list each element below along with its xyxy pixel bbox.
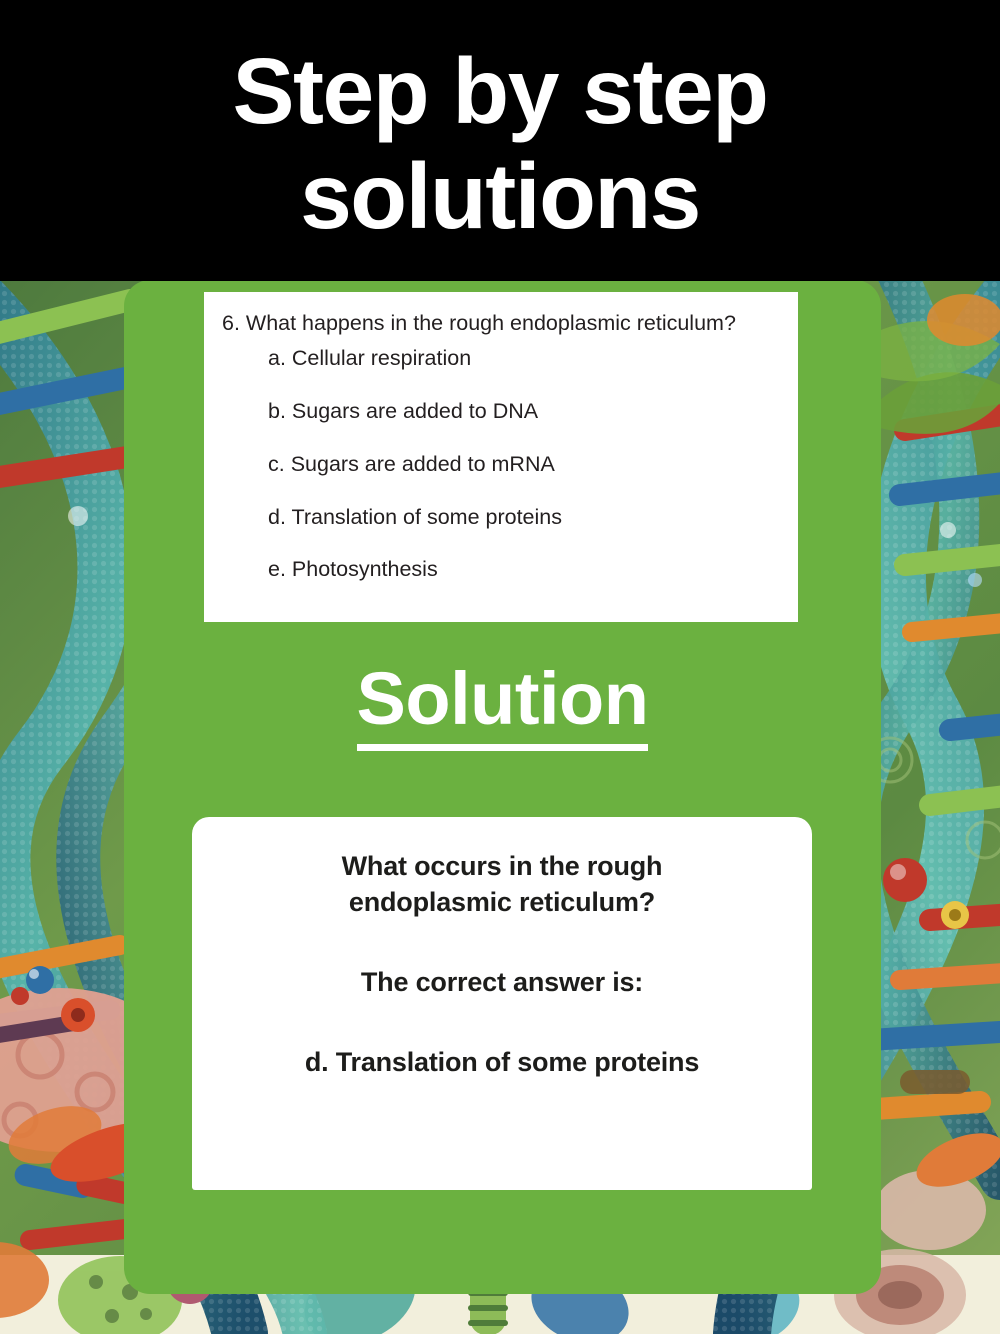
question-option-a[interactable]: a. Cellular respiration (222, 345, 784, 372)
question-stem: 6. What happens in the rough endoplasmic… (222, 310, 784, 337)
solution-heading: Solution (124, 660, 881, 751)
question-option-b[interactable]: b. Sugars are added to DNA (222, 398, 784, 425)
question-option-e[interactable]: e. Photosynthesis (222, 556, 784, 583)
answer-card: What occurs in the rough endoplasmic ret… (192, 817, 812, 1190)
answer-lead-in: The correct answer is: (232, 965, 772, 1001)
spacer-2 (232, 1001, 772, 1045)
solution-heading-label: Solution (357, 660, 649, 751)
page-title: Step by step solutions (0, 39, 1000, 247)
correct-answer: d. Translation of some proteins (232, 1045, 772, 1081)
question-card: 6. What happens in the rough endoplasmic… (204, 292, 798, 622)
spacer-1 (232, 921, 772, 965)
slide-canvas: Step by step solutions 6. What happens i… (0, 0, 1000, 1334)
question-option-c[interactable]: c. Sugars are added to mRNA (222, 451, 784, 478)
restated-question-line-2: endoplasmic reticulum? (232, 885, 772, 921)
restated-question-line-1: What occurs in the rough (232, 849, 772, 885)
header-banner: Step by step solutions (0, 0, 1000, 281)
question-option-d[interactable]: d. Translation of some proteins (222, 504, 784, 531)
